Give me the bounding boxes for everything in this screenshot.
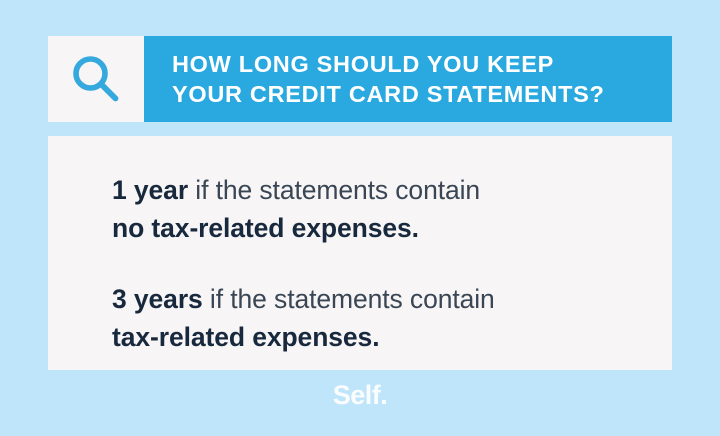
statement-condition: if the statements contain (188, 175, 480, 205)
content-card: 1 year if the statements contain no tax-… (48, 136, 672, 370)
statement-duration: 1 year (112, 175, 188, 205)
header-row: HOW LONG SHOULD YOU KEEP YOUR CREDIT CAR… (48, 36, 672, 122)
brand-logo: Self. (0, 380, 720, 411)
statement-highlight: no tax-related expenses. (112, 213, 419, 243)
statement-item: 1 year if the statements contain no tax-… (112, 172, 642, 247)
header-title-line-2: YOUR CREDIT CARD STATEMENTS? (172, 79, 658, 109)
brand-logo-name: Self (333, 380, 381, 410)
infographic-canvas: HOW LONG SHOULD YOU KEEP YOUR CREDIT CAR… (0, 0, 720, 436)
statement-highlight: tax-related expenses. (112, 322, 379, 352)
statement-condition: if the statements contain (203, 284, 495, 314)
statement-item: 3 years if the statements contain tax-re… (112, 281, 642, 356)
icon-box (48, 36, 144, 122)
statement-duration: 3 years (112, 284, 203, 314)
header-title-line-1: HOW LONG SHOULD YOU KEEP (172, 49, 658, 79)
header-title-bar: HOW LONG SHOULD YOU KEEP YOUR CREDIT CAR… (144, 36, 672, 122)
brand-logo-dot: . (380, 380, 387, 410)
magnifying-glass-icon (70, 53, 122, 105)
